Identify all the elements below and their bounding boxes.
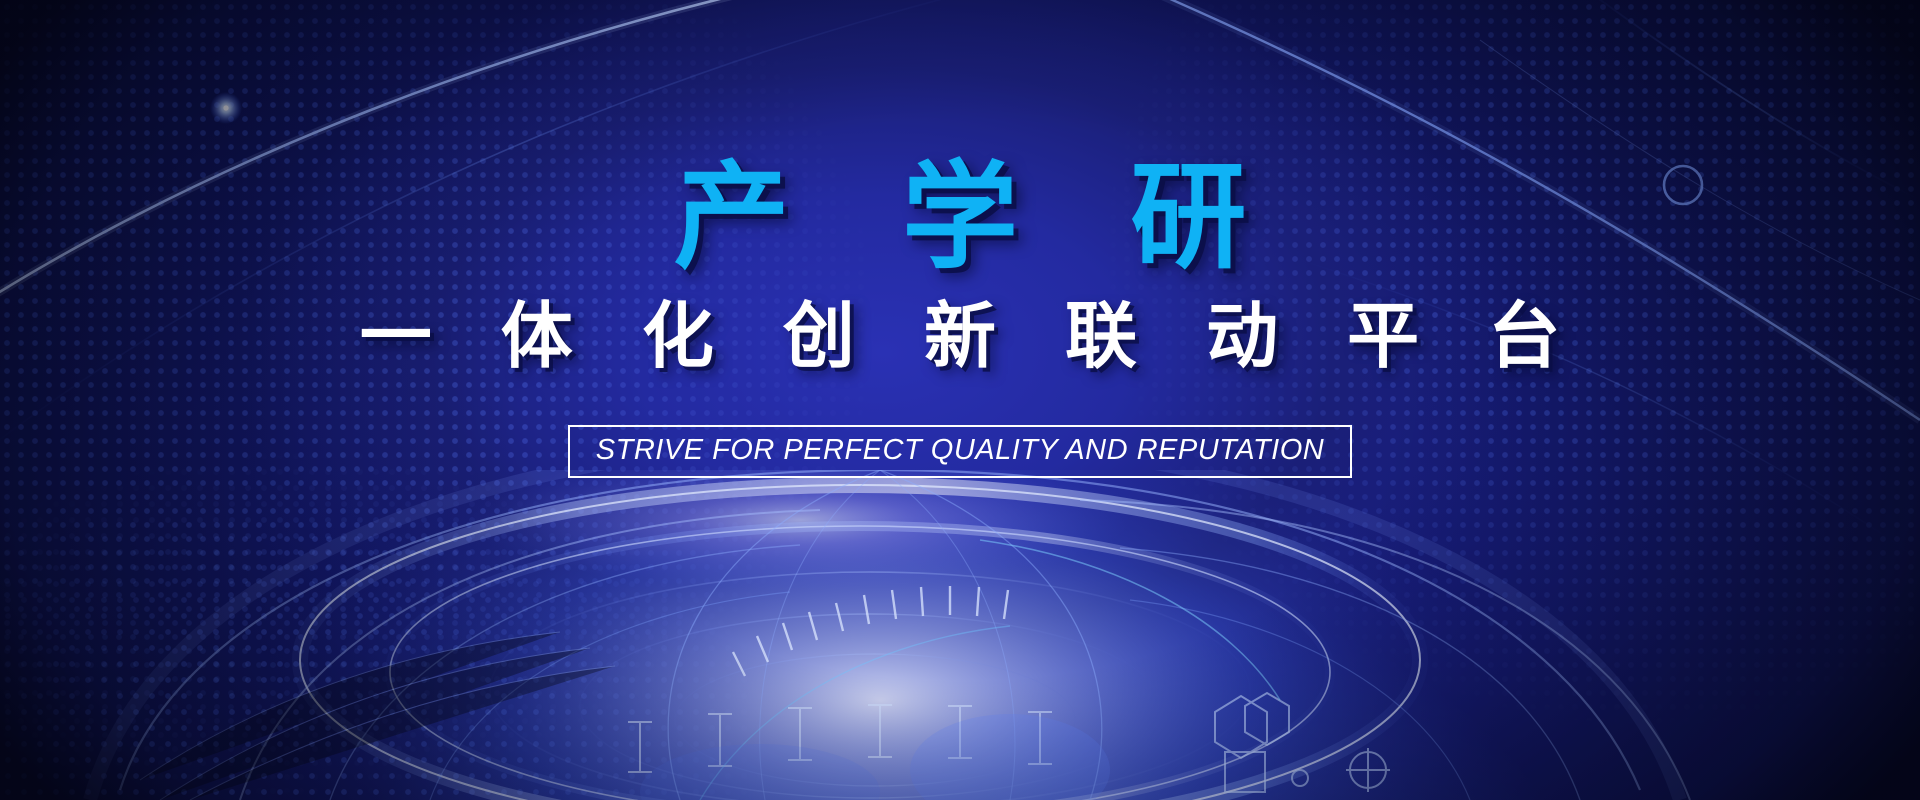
hero-banner: 产 学 研 一 体 化 创 新 联 动 平 台 STRIVE FOR PERFE… (0, 0, 1920, 800)
tech-globe-graphic (0, 0, 1920, 800)
